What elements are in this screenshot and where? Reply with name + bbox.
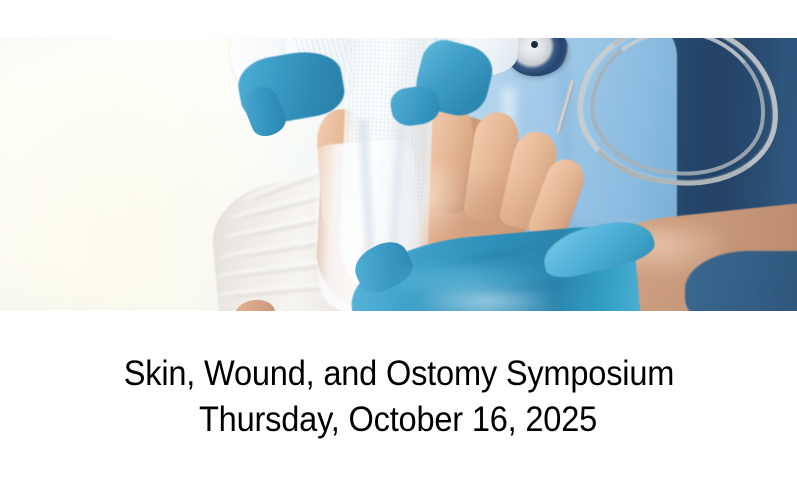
event-title: Skin, Wound, and Ostomy Symposium xyxy=(123,351,673,397)
event-date: Thursday, October 16, 2025 xyxy=(199,397,597,443)
slide-canvas: Skin, Wound, and Ostomy Symposium Thursd… xyxy=(0,0,797,488)
caption-block: Skin, Wound, and Ostomy Symposium Thursd… xyxy=(0,311,797,488)
stethoscope-chestpiece-center xyxy=(531,41,538,48)
photo-composition xyxy=(0,38,797,311)
nurse-glove-highlight xyxy=(414,289,557,311)
hero-photo xyxy=(0,38,797,311)
